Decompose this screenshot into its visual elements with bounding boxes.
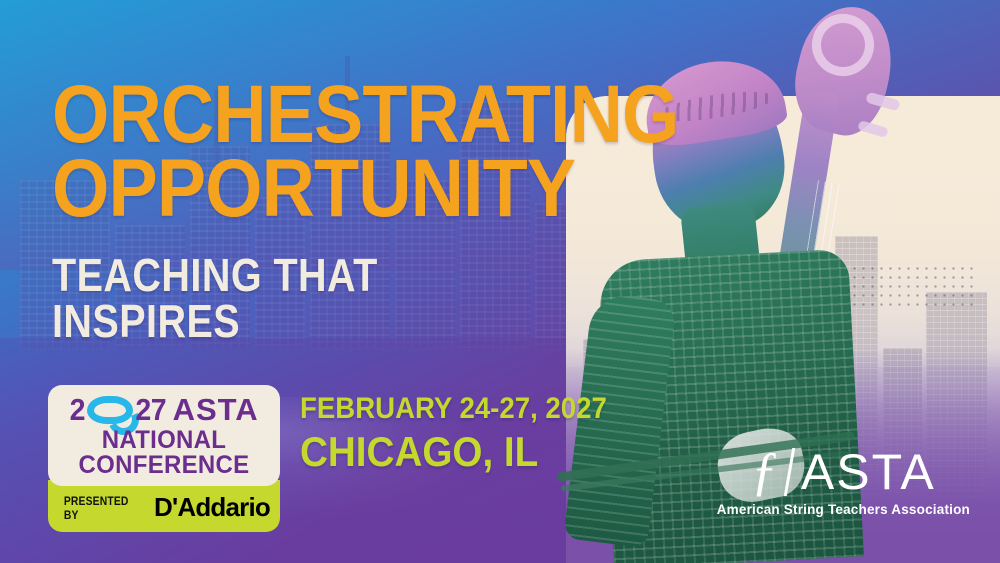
- event-location: CHICAGO, IL: [300, 431, 607, 473]
- f-hole-script-icon: ƒ: [751, 449, 778, 495]
- asta-wordmark: ASTA: [801, 447, 936, 497]
- badge-year-row: 2 27 ASTA: [60, 394, 268, 425]
- asta-logo: ƒ ASTA American String Teachers Associat…: [717, 447, 970, 517]
- logo-divider: [784, 448, 795, 496]
- asta-logo-row: ƒ ASTA: [717, 447, 970, 497]
- asta-tagline: American String Teachers Association: [717, 502, 970, 517]
- badge-org-name: ASTA: [173, 394, 259, 425]
- conference-badge: 2 27 ASTA NATIONAL CONFERENCE PRESENTED …: [48, 385, 280, 532]
- headline-subtitle: TEACHING THAT INSPIRES: [52, 252, 499, 344]
- headline-line-2: OPPORTUNITY: [52, 152, 520, 226]
- presented-by-label: PRESENTED BY: [64, 494, 136, 522]
- badge-top-section: 2 27 ASTA NATIONAL CONFERENCE: [48, 385, 280, 486]
- badge-conference-name: NATIONAL CONFERENCE: [64, 428, 264, 478]
- headline-line-1: ORCHESTRATING: [52, 78, 520, 152]
- badge-year-suffix: 27: [135, 394, 166, 425]
- sponsor-name: D'Addario: [154, 492, 270, 523]
- tuning-peg: [857, 120, 889, 138]
- badge-year-prefix: 2: [70, 394, 85, 425]
- headline-block: ORCHESTRATING OPPORTUNITY TEACHING THAT …: [52, 78, 572, 344]
- infinity-loop-icon: [87, 396, 133, 424]
- event-details: FEBRUARY 24-27, 2027 CHICAGO, IL: [300, 394, 634, 473]
- sponsor-bar: PRESENTED BY D'Addario: [48, 480, 280, 532]
- conference-promo-poster: ORCHESTRATING OPPORTUNITY TEACHING THAT …: [0, 0, 1000, 563]
- event-date: FEBRUARY 24-27, 2027: [300, 394, 607, 424]
